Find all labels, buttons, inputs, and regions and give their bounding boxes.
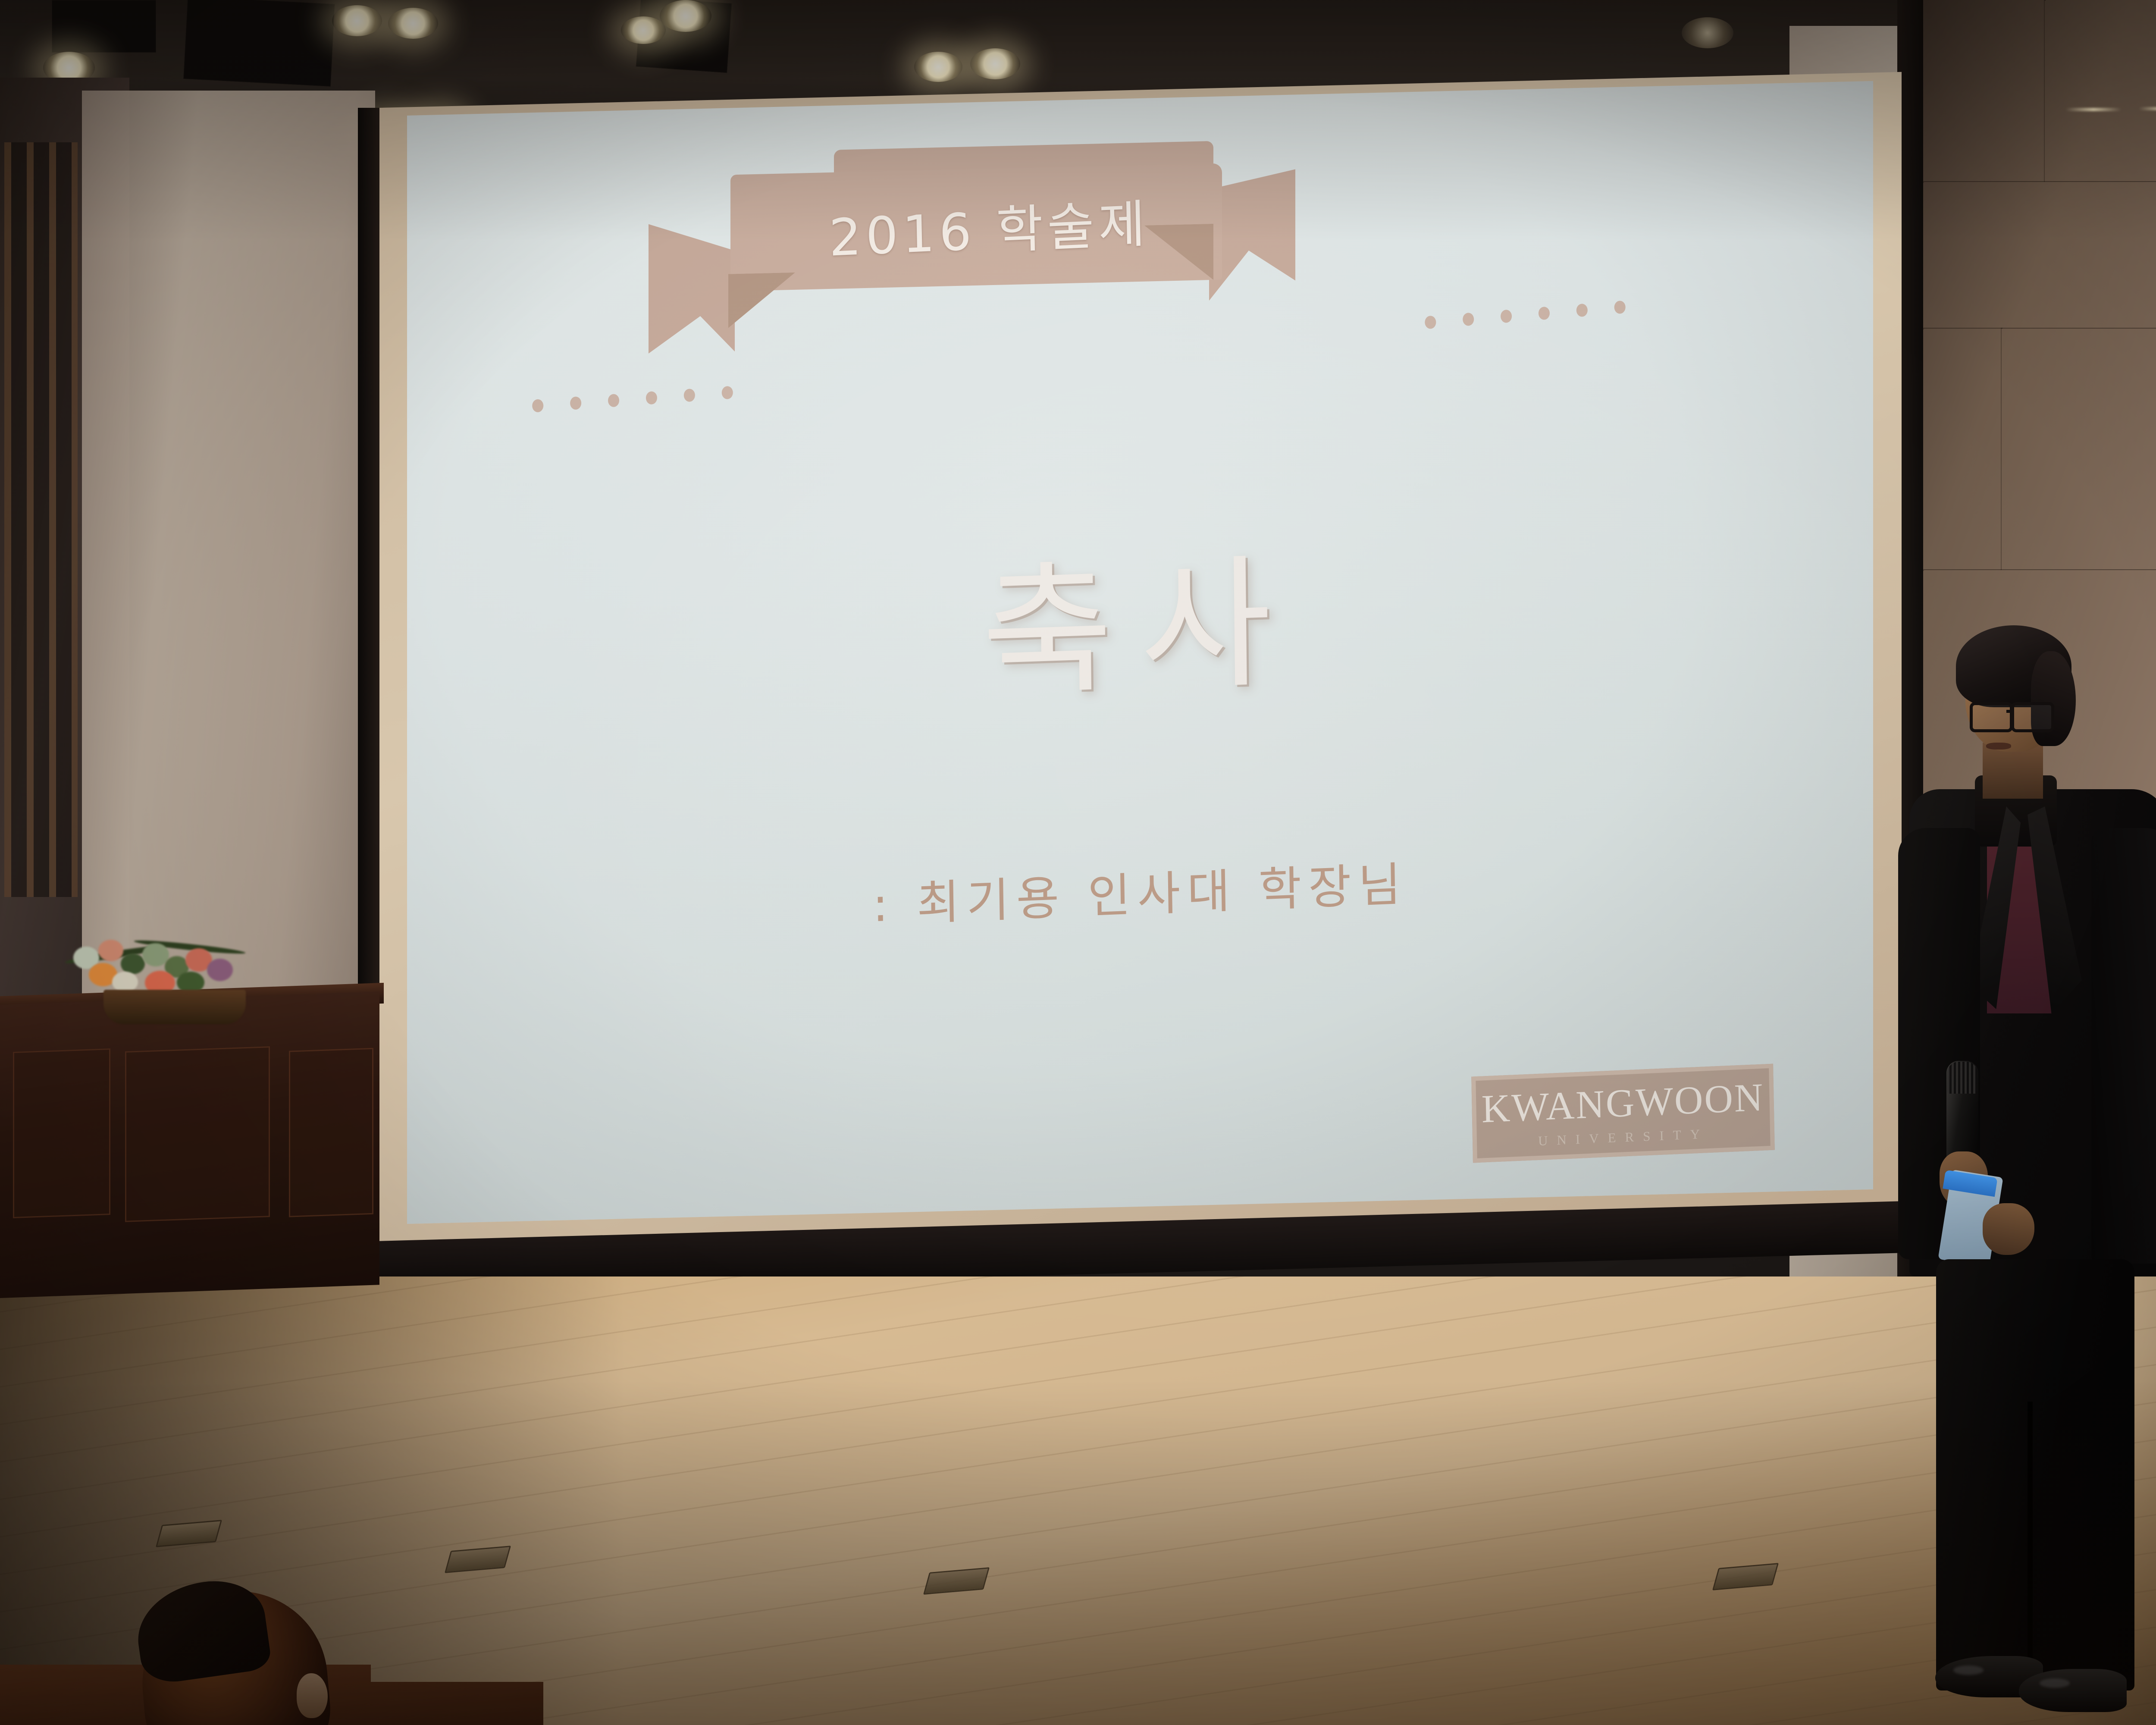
dot bbox=[1500, 309, 1512, 323]
ceiling-spotlight bbox=[621, 16, 666, 44]
hand-right bbox=[1983, 1203, 2034, 1255]
ribbon-tail-left bbox=[649, 222, 735, 354]
trouser-leg-split bbox=[2028, 1402, 2033, 1682]
dot bbox=[721, 386, 733, 400]
flower-basket bbox=[103, 990, 246, 1024]
dot bbox=[1614, 300, 1626, 314]
projection-screen: 2016 학술제 축사 : 최기용 인사대 학장님 KWANGWOON UNIV… bbox=[407, 81, 1873, 1224]
dot bbox=[532, 399, 544, 413]
trousers bbox=[1936, 1259, 2134, 1690]
logo-main-text: KWANGWOON bbox=[1476, 1077, 1770, 1129]
ceiling-spotlight bbox=[660, 0, 711, 32]
dot bbox=[683, 389, 695, 402]
ceiling-spotlight bbox=[1682, 17, 1733, 48]
ceiling-spotlight bbox=[914, 52, 962, 82]
decorative-dots-left bbox=[532, 386, 733, 413]
dot bbox=[1538, 306, 1550, 320]
arm-right bbox=[2091, 828, 2156, 1264]
shoe-highlight bbox=[1953, 1665, 1984, 1675]
slide-subtitle: : 최기용 인사대 학장님 bbox=[407, 828, 1873, 953]
decorative-dots-right bbox=[1425, 300, 1626, 329]
wood-slat-panel bbox=[4, 142, 78, 897]
shoe-right bbox=[2019, 1669, 2127, 1712]
ribbon-tail-right bbox=[1209, 169, 1295, 301]
glasses-bridge bbox=[2006, 710, 2012, 713]
shoe-highlight bbox=[2040, 1678, 2070, 1688]
dot bbox=[608, 394, 619, 408]
audience-member-ear bbox=[297, 1673, 328, 1718]
flower-arrangement bbox=[47, 916, 272, 1016]
wood-cabinet bbox=[0, 991, 379, 1298]
dot bbox=[1576, 303, 1588, 317]
kwangwoon-university-logo: KWANGWOON UNIVERSITY bbox=[1471, 1064, 1775, 1163]
slide-title: 축사 bbox=[407, 487, 1873, 743]
microphone-grille bbox=[1947, 1062, 1977, 1094]
dot bbox=[646, 391, 657, 405]
ceiling-panel bbox=[52, 0, 156, 53]
ceiling-panel bbox=[183, 0, 335, 87]
mouth bbox=[1986, 743, 2011, 750]
ceiling-spotlight bbox=[388, 8, 438, 39]
auditorium-photo: 2016 학술제 축사 : 최기용 인사대 학장님 KWANGWOON UNIV… bbox=[0, 0, 2156, 1725]
ribbon-banner: 2016 학술제 bbox=[649, 135, 1295, 336]
dot bbox=[1462, 312, 1474, 326]
ceiling-spotlight bbox=[970, 48, 1020, 79]
dot bbox=[570, 396, 581, 410]
glasses-lens-left bbox=[1970, 702, 2013, 732]
speaker bbox=[1867, 625, 2156, 1703]
ceiling-spotlight bbox=[332, 5, 382, 36]
dot bbox=[1425, 315, 1437, 329]
glasses-lens-right bbox=[2011, 702, 2054, 732]
